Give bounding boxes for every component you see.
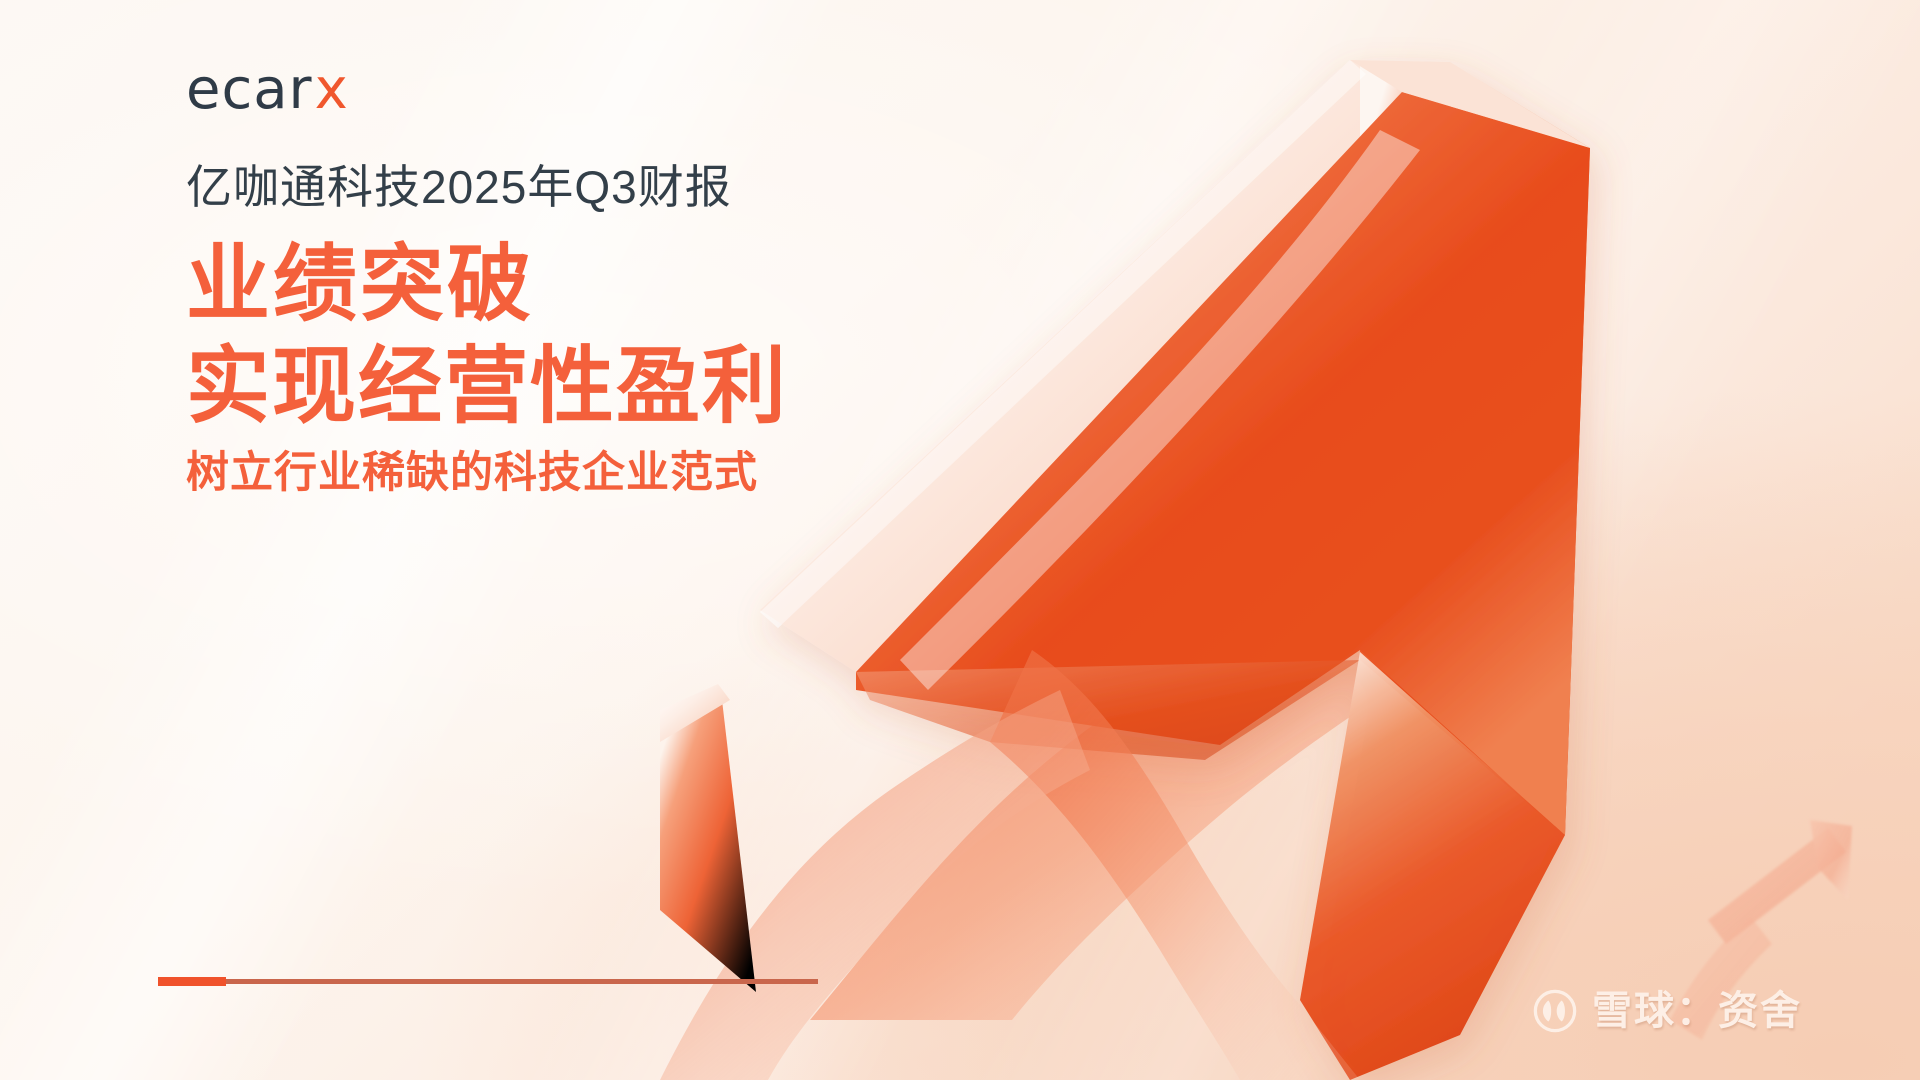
hero-subline: 树立行业稀缺的科技企业范式 [186,448,1026,500]
divider-accent-segment [158,977,226,986]
ecarx-logo: ecarx [186,62,1026,124]
banner-canvas: ecarx 亿咖通科技2025年Q3财报 业绩突破 实现经营性盈利 树立行业稀缺… [0,0,1920,1080]
logo-accent-x: x [315,62,348,118]
logo-wordmark: ecar [186,62,313,118]
headline-line-1: 业绩突破 [186,233,1026,335]
watermark-text: 雪球：资舍 [1592,991,1802,1031]
report-kicker: 亿咖通科技2025年Q3财报 [186,162,1026,213]
divider [158,976,818,986]
divider-line-segment [226,979,818,984]
xueqiu-logo-icon [1532,988,1578,1034]
watermark: 雪球：资舍 [1532,988,1802,1034]
hero-content: ecarx 亿咖通科技2025年Q3财报 业绩突破 实现经营性盈利 树立行业稀缺… [186,62,1026,499]
headline-line-2: 实现经营性盈利 [186,335,1026,437]
